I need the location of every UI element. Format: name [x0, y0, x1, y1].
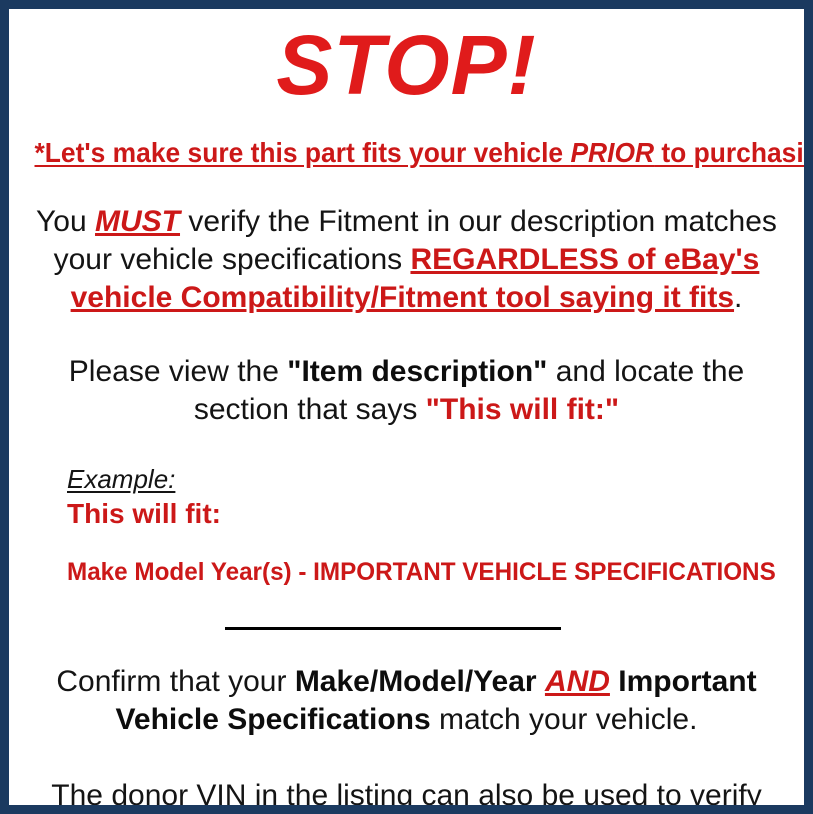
example-spec-line: Make Model Year(s) - IMPORTANT VEHICLE S… [67, 557, 772, 587]
example-block: Example: This will fit: Make Model Year(… [19, 465, 794, 586]
paragraph3-segment-1: Confirm that your [56, 665, 294, 698]
paragraph3-emphasis-make-model-year: Make/Model/Year [295, 665, 537, 698]
example-label: Example: [67, 465, 175, 495]
example-label-row: Example: [67, 465, 794, 495]
divider-wrapper [19, 617, 794, 635]
paragraph-item-description: Please view the "Item description" and l… [19, 353, 794, 429]
tagline-part-2: to purchasing* [654, 137, 813, 168]
paragraph2-emphasis-this-will-fit: "This will fit:" [426, 393, 619, 426]
paragraph3-segment-2 [537, 665, 545, 698]
paragraph1-segment-3: . [734, 281, 742, 314]
paragraph-confirm-match: Confirm that your Make/Model/Year AND Im… [19, 663, 794, 739]
page-title: STOP! [19, 23, 794, 107]
example-fit-line: This will fit: [67, 497, 794, 531]
paragraph-verify-fitment: You MUST verify the Fitment in our descr… [19, 203, 794, 317]
paragraph2-segment-1: Please view the [69, 355, 287, 388]
notice-content: STOP! *Let's make sure this part fits yo… [9, 23, 804, 814]
fitment-notice-card: STOP! *Let's make sure this part fits yo… [0, 0, 813, 814]
tagline-emphasis-prior: PRIOR [570, 137, 654, 168]
paragraph3-emphasis-and: AND [545, 665, 610, 698]
paragraph-donor-vin: The donor VIN in the listing can also be… [19, 777, 794, 814]
tagline-banner: *Let's make sure this part fits your veh… [35, 137, 779, 169]
paragraph2-emphasis-item-description: "Item description" [287, 355, 547, 388]
paragraph3-segment-4: match your vehicle. [431, 703, 698, 736]
section-divider [225, 627, 561, 630]
paragraph1-emphasis-must: MUST [95, 205, 180, 238]
paragraph1-segment-1: You [36, 205, 95, 238]
tagline-part-1: *Let's make sure this part fits your veh… [35, 137, 571, 168]
